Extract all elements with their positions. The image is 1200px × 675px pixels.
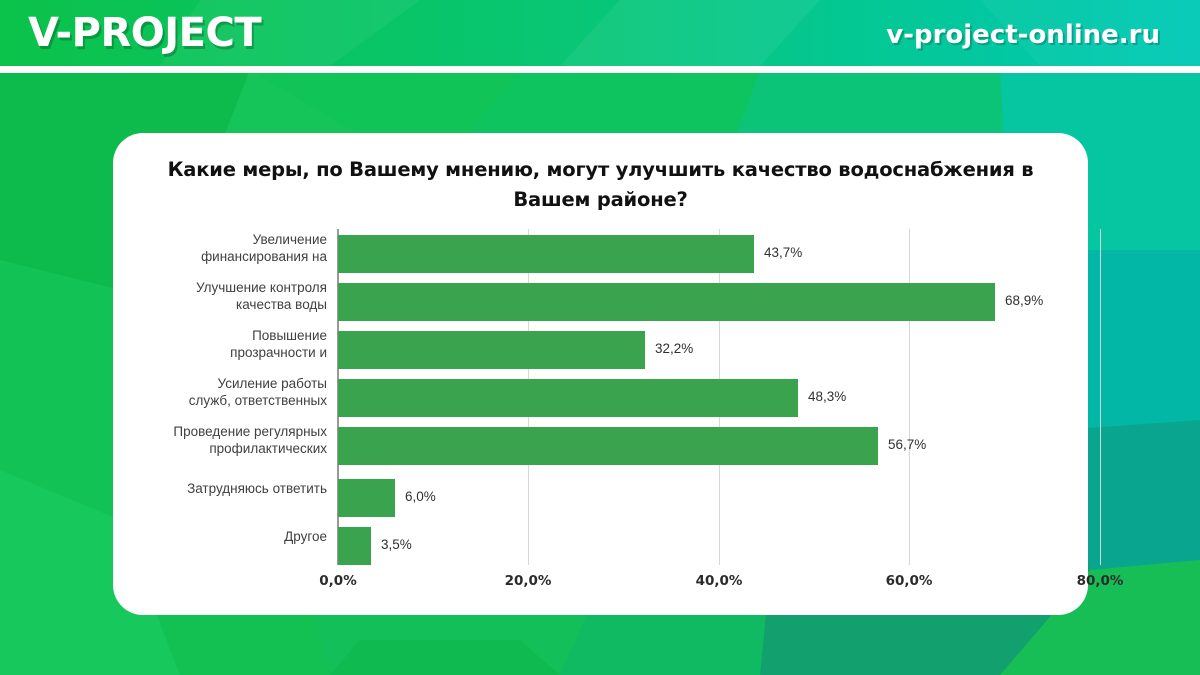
- category-label-line: Проведение регулярных: [173, 424, 327, 439]
- slide-canvas: V-PROJECT v-project-online.ru Какие меры…: [0, 0, 1200, 675]
- bar-value-3: 48,3%: [808, 389, 846, 404]
- bar-value-0: 43,7%: [764, 245, 802, 260]
- category-label-line: Улучшение контроля: [196, 280, 327, 295]
- chart-plot-area: Увеличение финансирования на Улучшение к…: [125, 229, 1085, 599]
- bar-value-5: 6,0%: [405, 489, 436, 504]
- xtick-label-1: 20,0%: [505, 573, 552, 589]
- category-label-line: Затрудняюсь ответить: [187, 481, 327, 496]
- category-label-line: прозрачности и: [230, 345, 327, 360]
- bar-value-6: 3,5%: [381, 537, 412, 552]
- bar-2[interactable]: [338, 331, 645, 369]
- bar-value-1: 68,9%: [1005, 293, 1043, 308]
- category-label-line: Усиление работы: [218, 376, 327, 391]
- bar-5[interactable]: [338, 479, 395, 517]
- gridline-60: [909, 229, 910, 565]
- category-label-line: Увеличение: [253, 232, 327, 247]
- category-label: Проведение регулярных профилактических: [122, 423, 327, 457]
- category-axis-labels: Увеличение финансирования на Улучшение к…: [125, 229, 337, 565]
- category-label-line: финансирования на: [201, 249, 327, 264]
- xtick-label-2: 40,0%: [696, 573, 743, 589]
- xtick-label-4: 80,0%: [1077, 573, 1124, 589]
- xtick-label-0: 0,0%: [319, 573, 356, 589]
- chart-card: Какие меры, по Вашему мнению, могут улуч…: [113, 133, 1088, 615]
- category-label-line: профилактических: [209, 441, 327, 456]
- category-label: Затрудняюсь ответить: [122, 480, 327, 497]
- category-label-line: качества воды: [236, 297, 327, 312]
- category-label: Увеличение финансирования на: [122, 231, 327, 265]
- category-label: Улучшение контроля качества воды: [122, 279, 327, 313]
- category-label: Другое: [122, 528, 327, 545]
- chart-title: Какие меры, по Вашему мнению, могут улуч…: [153, 155, 1048, 215]
- category-label-line: Другое: [284, 529, 327, 544]
- bar-4[interactable]: [338, 427, 878, 465]
- bar-0[interactable]: [338, 235, 754, 273]
- header-divider-rule: [0, 66, 1200, 73]
- category-label-line: служб, ответственных: [189, 393, 327, 408]
- gridline-80: [1100, 229, 1101, 565]
- bar-value-2: 32,2%: [655, 341, 693, 356]
- bar-value-4: 56,7%: [888, 437, 926, 452]
- site-url-label: v-project-online.ru: [886, 20, 1160, 50]
- category-label: Усиление работы служб, ответственных: [122, 375, 327, 409]
- bar-3[interactable]: [338, 379, 798, 417]
- category-label-line: Повышение: [252, 328, 327, 343]
- bar-1[interactable]: [338, 283, 995, 321]
- brand-logo: V-PROJECT: [28, 10, 261, 56]
- bar-6[interactable]: [338, 527, 371, 565]
- xtick-label-3: 60,0%: [886, 573, 933, 589]
- category-label: Повышение прозрачности и: [122, 327, 327, 361]
